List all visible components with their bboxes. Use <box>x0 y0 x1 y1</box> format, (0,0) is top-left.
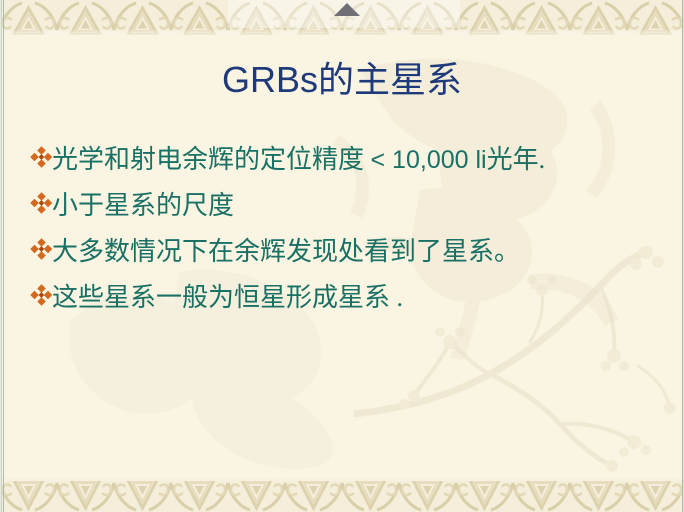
scroll-up-triangle-icon[interactable] <box>334 3 360 16</box>
list-item-text: 大多数情况下在余辉发现处看到了星系。 <box>52 233 520 269</box>
bullet-list: 光学和射电余辉的定位精度 < 10,000 li光年. 小于星系的尺度 <box>30 141 670 325</box>
list-item[interactable]: 小于星系的尺度 <box>30 187 670 233</box>
list-item-text-cjk: 光学和射电余辉的定位精度 <box>52 145 371 174</box>
list-item-text: 光学和射电余辉的定位精度 < 10,000 li光年. <box>52 141 545 177</box>
bottom-decorative-border <box>0 478 684 512</box>
list-item-text-tail: 光年. <box>487 145 546 174</box>
slide-canvas: GRBs的主星系 光学和射电余辉的定位精度 < 10,000 li光年. <box>0 0 684 512</box>
list-item-text-ascii: < 10,000 li <box>371 146 487 174</box>
slide-title: GRBs的主星系 <box>0 58 684 102</box>
diamond-cluster-bullet-icon <box>30 146 52 180</box>
diamond-cluster-bullet-icon <box>30 284 52 318</box>
diamond-cluster-bullet-icon <box>30 238 52 272</box>
list-item-text: 小于星系的尺度 <box>52 187 234 223</box>
diamond-cluster-bullet-icon <box>30 192 52 226</box>
list-item[interactable]: 光学和射电余辉的定位精度 < 10,000 li光年. <box>30 141 670 187</box>
list-item[interactable]: 大多数情况下在余辉发现处看到了星系。 <box>30 233 670 279</box>
list-item[interactable]: 这些星系一般为恒星形成星系 . <box>30 279 670 325</box>
list-item-text: 这些星系一般为恒星形成星系 . <box>52 279 403 315</box>
